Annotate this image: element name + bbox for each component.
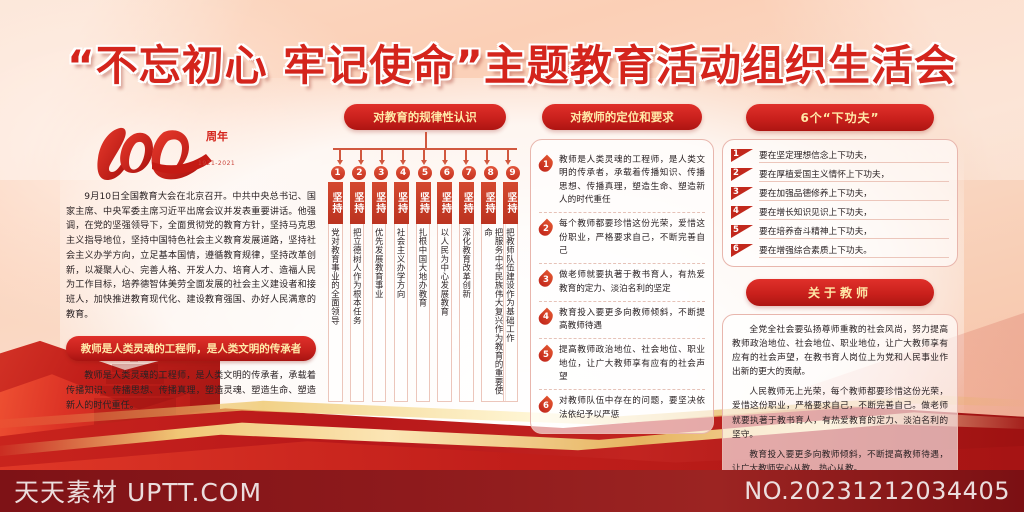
teacher-banner-paragraph: 教师是人类灵魂的工程师，是人类文明的传承者，承载着传播知识、传播思想、传播真理，… [66,369,316,413]
teacher-requirements-header: 对教师的定位和要求 [542,104,702,130]
list-item[interactable]: 1 教师是人类灵魂的工程师，是人类文明的传承者，承载着传播知识、传播思想、传播真… [539,149,705,213]
footer-id: NO.20231212034405 [744,477,1010,505]
keep-label: 坚持 [350,182,365,224]
item-text: 社会主义办学方向 [394,224,409,402]
keep-label: 坚持 [328,182,343,224]
item-text: 每个教师都要珍惜这份光荣，爱惜这份职业，严格要求自己，不断完善自己 [559,218,705,258]
list-item[interactable]: 9 坚持 把教师队伍建设作为基础工作 [503,166,522,402]
list-item[interactable]: 1 坚持 党对教育事业的全面领导 [328,166,347,402]
about-teachers-paragraph: 人民教师无上光荣，每个教师都要珍惜这份光荣，爱惜这份职业，严格要求自己，不断完善… [732,385,948,441]
list-item[interactable]: 5 提高教师政治地位、社会地位、职业地位，让广大教师享有应有的社会声望 [539,339,705,390]
item-text: 教师是人类灵魂的工程师，是人类文明的传承者，承载着传播知识、传播思想、传播真理，… [559,154,705,207]
flag-icon: 6 [731,244,753,257]
item-text: 要在加强品德修养上下功夫， [759,186,949,201]
anniversary-logo: 周年 1921-2021 [66,122,316,186]
item-text: 扎根中国大地办教育 [416,224,431,402]
tree-arrow-icon [400,160,406,165]
column-education-laws: 对教育的规律性认识 [328,104,522,402]
tree-stem [425,132,427,148]
page-title: “不忘初心 牢记使命”主题教育活动组织生活会 [0,32,1024,93]
item-number: 1 [331,166,345,180]
tree-arrow-icon [379,160,385,165]
tree-arrow-icon [358,160,364,165]
keep-label: 坚持 [372,182,387,224]
column-teacher-requirements: 对教师的定位和要求 1 教师是人类灵魂的工程师，是人类文明的传承者，承载着传播知… [530,104,714,434]
item-number: 4 [396,166,410,180]
item-number-badge: 4 [539,309,553,326]
list-item[interactable]: 8 坚持 把服务中华民族伟大复兴作为教育的重要使命 [481,166,500,402]
item-text: 党对教育事业的全面领导 [328,224,343,402]
item-number-badge: 3 [539,271,553,288]
item-text: 把立德树人作为根本任务 [350,224,365,402]
keep-label: 坚持 [437,182,452,224]
column-intro: 周年 1921-2021 9月10日全国教育大会在北京召开。中共中央总书记、国家… [66,104,316,414]
about-teachers-panel: 全党全社会要弘扬尊师重教的社会风尚，努力提高教师政治地位、社会地位、职业地位，让… [722,314,958,485]
item-number: 7 [462,166,476,180]
item-text: 做老师就要执著于教书育人，有热爱教育的定力、淡泊名利的坚定 [559,269,705,296]
poster: “不忘初心 牢记使命”主题教育活动组织生活会 周年 1921-2021 [0,0,1024,512]
six-efforts-header: 6个“下功夫” [746,104,934,131]
flag-icon: 2 [731,168,753,181]
item-number-badge: 5 [539,346,553,363]
keep-label: 坚持 [416,182,431,224]
list-item[interactable]: 3 坚持 优先发展教育事业 [372,166,391,402]
list-item[interactable]: 2 坚持 把立德树人作为根本任务 [350,166,369,402]
list-item[interactable]: 6 要在增强综合素质上下功夫。 [731,241,949,260]
about-teachers-header: 关于教师 [746,279,934,306]
anniversary-label: 周年 [206,128,228,144]
item-text: 对教师队伍中存在的问题，要坚决依法依纪予以严惩 [559,395,705,422]
list-item[interactable]: 4 坚持 社会主义办学方向 [394,166,413,402]
teacher-banner: 教师是人类灵魂的工程师，是人类文明的传承者 [66,336,316,361]
list-item[interactable]: 6 对教师队伍中存在的问题，要坚决依法依纪予以严惩 [539,390,705,427]
list-item[interactable]: 5 要在培养奋斗精神上下功夫， [731,222,949,241]
education-laws-items: 1 坚持 党对教育事业的全面领导 2 坚持 把立德树人作为根本任务 3 坚持 优… [328,166,522,402]
teacher-requirements-panel: 1 教师是人类灵魂的工程师，是人类文明的传承者，承载着传播知识、传播思想、传播真… [530,139,714,434]
tree-arrow-icon [484,160,490,165]
tree-arrow-icon [337,160,343,165]
item-number: 3 [374,166,388,180]
footer-bar: 天天素材 UPTT.COM NO.20231212034405 [0,470,1024,512]
tree-arrow-icon [463,160,469,165]
flag-icon: 4 [731,206,753,219]
list-item[interactable]: 4 教育投入要更多向教师倾斜，不断提高教师待遇 [539,302,705,340]
list-item[interactable]: 5 坚持 扎根中国大地办教育 [416,166,435,402]
item-text: 要在坚定理想信念上下功夫， [759,148,949,163]
keep-label: 坚持 [481,182,496,224]
list-item[interactable]: 3 要在加强品德修养上下功夫， [731,184,949,203]
six-efforts-panel: 1 要在坚定理想信念上下功夫， 2 要在厚植爱国主义情怀上下功夫， 3 要在加强… [722,139,958,267]
anniversary-years: 1921-2021 [198,160,235,167]
item-text: 把教师队伍建设作为基础工作 [503,224,518,402]
item-text: 教育投入要更多向教师倾斜，不断提高教师待遇 [559,307,705,334]
list-item[interactable]: 4 要在增长知识见识上下功夫， [731,203,949,222]
item-number: 8 [484,166,498,180]
item-number: 6 [440,166,454,180]
list-item[interactable]: 2 要在厚植爱国主义情怀上下功夫， [731,165,949,184]
flag-icon: 5 [731,225,753,238]
list-item[interactable]: 2 每个教师都要珍惜这份光荣，爱惜这份职业，严格要求自己，不断完善自己 [539,213,705,264]
connector-tree [328,132,522,166]
item-text: 要在厚植爱国主义情怀上下功夫， [759,167,949,182]
list-item[interactable]: 7 坚持 深化教育改革创新 [459,166,478,402]
item-number: 2 [352,166,366,180]
item-text: 提高教师政治地位、社会地位、职业地位，让广大教师享有应有的社会声望 [559,344,705,384]
item-text: 深化教育改革创新 [459,224,474,402]
education-laws-header: 对教育的规律性认识 [344,104,506,130]
content-area: 周年 1921-2021 9月10日全国教育大会在北京召开。中共中央总书记、国家… [66,104,958,456]
item-text: 优先发展教育事业 [372,224,387,402]
item-text: 要在培养奋斗精神上下功夫， [759,224,949,239]
flag-icon: 1 [731,149,753,162]
keep-label: 坚持 [459,182,474,224]
about-teachers-paragraph: 全党全社会要弘扬尊师重教的社会风尚，努力提高教师政治地位、社会地位、职业地位，让… [732,323,948,379]
item-text: 要在增强综合素质上下功夫。 [759,243,949,258]
flag-icon: 3 [731,187,753,200]
tree-arrow-icon [421,160,427,165]
item-number: 5 [418,166,432,180]
keep-label: 坚持 [394,182,409,224]
column-six-efforts: 6个“下功夫” 1 要在坚定理想信念上下功夫， 2 要在厚植爱国主义情怀上下功夫… [722,104,958,485]
item-number-badge: 1 [539,156,553,173]
list-item[interactable]: 6 坚持 以人民为中心发展教育 [437,166,456,402]
tree-arrow-icon [442,160,448,165]
item-text: 要在增长知识见识上下功夫， [759,205,949,220]
footer-watermark: 天天素材 UPTT.COM [14,473,262,509]
item-text: 以人民为中心发展教育 [437,224,452,402]
item-number-badge: 2 [539,220,553,237]
hundred-years-emblem-icon [94,118,214,180]
tree-arrow-icon [505,160,511,165]
item-number-badge: 6 [539,397,553,414]
list-item[interactable]: 3 做老师就要执著于教书育人，有热爱教育的定力、淡泊名利的坚定 [539,264,705,302]
keep-label: 坚持 [503,182,518,224]
list-item[interactable]: 1 要在坚定理想信念上下功夫， [731,146,949,165]
item-number: 9 [506,166,520,180]
intro-paragraph: 9月10日全国教育大会在北京召开。中共中央总书记、国家主席、中央军委主席习近平出… [66,190,316,322]
